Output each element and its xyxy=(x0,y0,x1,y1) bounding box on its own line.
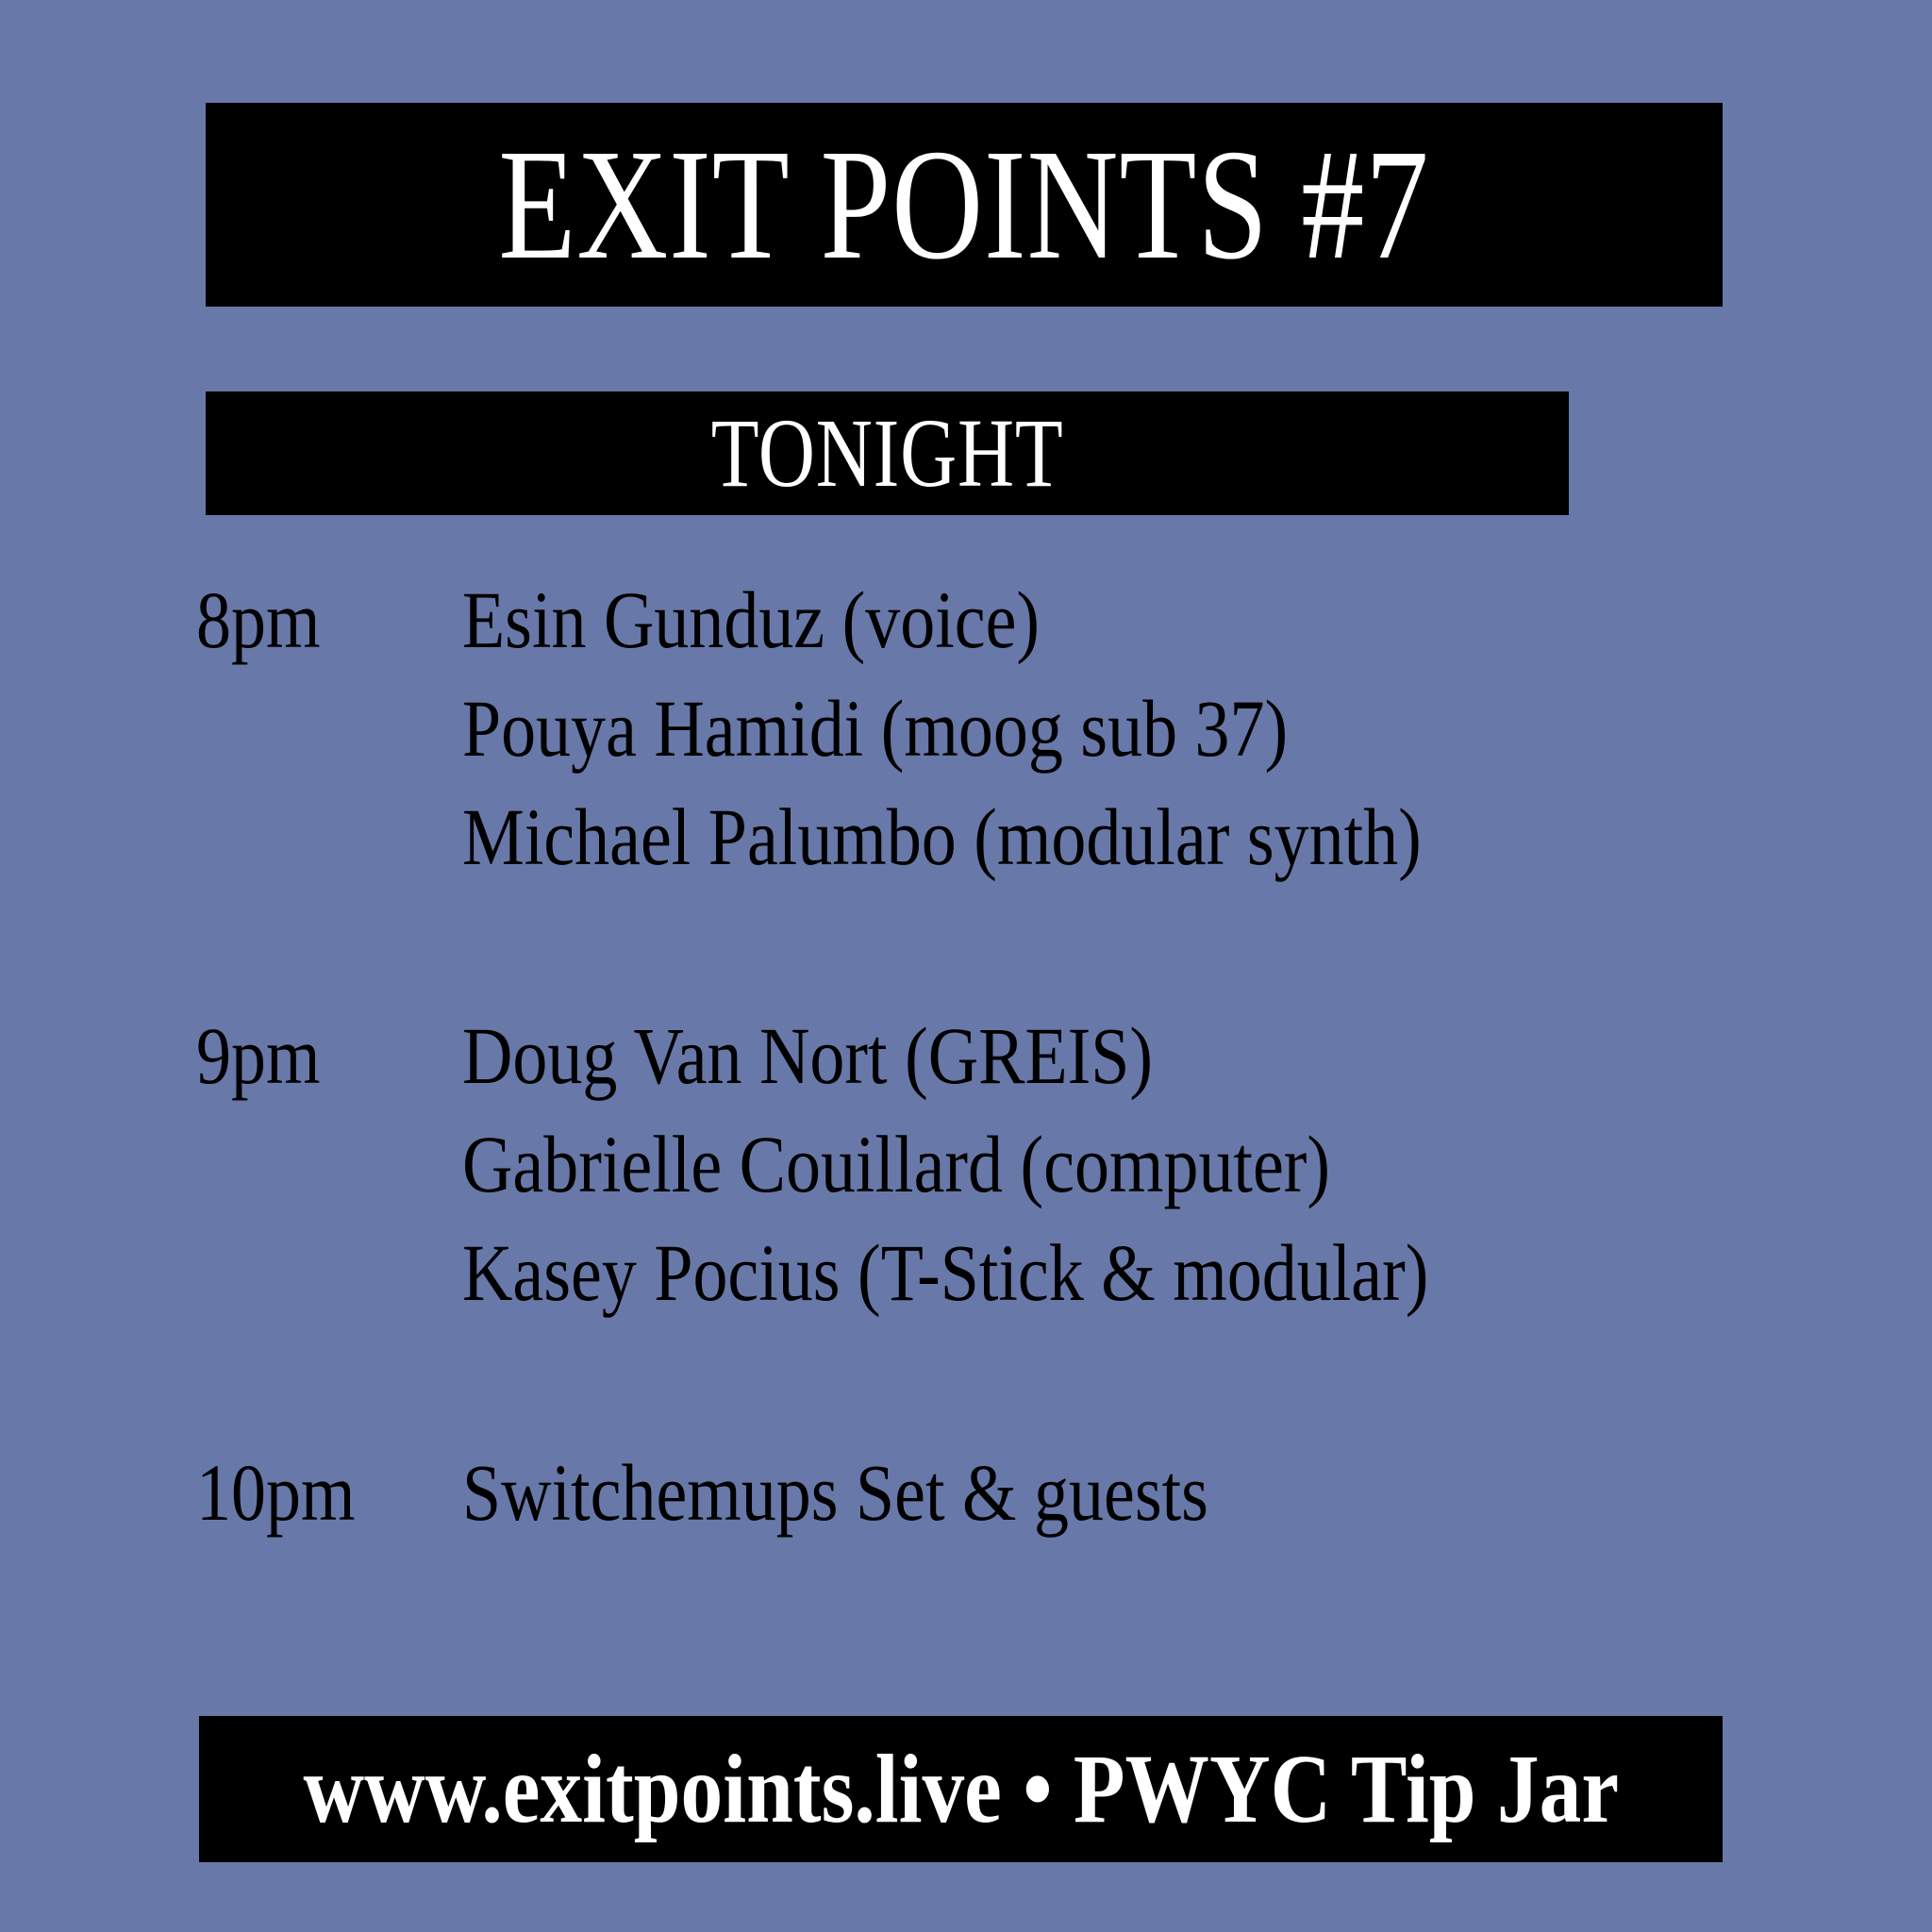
slot-time-label: 10pm xyxy=(196,1439,425,1547)
footer-link-and-tip-note[interactable]: www.exitpoints.live • PWYC Tip Jar xyxy=(303,1740,1619,1839)
page-title: EXIT POINTS #7 xyxy=(499,125,1430,284)
slot-act-list: Switchemups Set & guests xyxy=(462,1439,1857,1547)
event-poster: EXIT POINTS #7 TONIGHT 8pm Esin Gunduz (… xyxy=(0,0,1932,1932)
act-line: Michael Palumbo (modular synth) xyxy=(462,783,1661,891)
slot-act-list: Doug Van Nort (GREIS) Gabrielle Couillar… xyxy=(462,1002,1857,1327)
slot-time-label: 9pm xyxy=(196,1002,425,1110)
act-line: Gabrielle Couillard (computer) xyxy=(462,1110,1661,1219)
schedule-slot-10pm: 10pm Switchemups Set & guests xyxy=(196,1439,1857,1547)
title-banner: EXIT POINTS #7 xyxy=(206,103,1723,307)
act-line: Doug Van Nort (GREIS) xyxy=(462,1002,1661,1110)
schedule-list: 8pm Esin Gunduz (voice) Pouya Hamidi (mo… xyxy=(196,566,1857,1547)
schedule-slot-8pm: 8pm Esin Gunduz (voice) Pouya Hamidi (mo… xyxy=(196,566,1857,891)
slot-time-label: 8pm xyxy=(196,566,425,675)
subtitle-label: TONIGHT xyxy=(711,405,1064,503)
schedule-slot-9pm: 9pm Doug Van Nort (GREIS) Gabrielle Coui… xyxy=(196,1002,1857,1327)
act-line: Switchemups Set & guests xyxy=(462,1439,1661,1547)
footer-banner: www.exitpoints.live • PWYC Tip Jar xyxy=(199,1716,1723,1862)
act-line: Kasey Pocius (T-Stick & modular) xyxy=(462,1219,1661,1327)
slot-act-list: Esin Gunduz (voice) Pouya Hamidi (moog s… xyxy=(462,566,1857,891)
subtitle-banner: TONIGHT xyxy=(206,391,1569,515)
act-line: Esin Gunduz (voice) xyxy=(462,566,1661,675)
act-line: Pouya Hamidi (moog sub 37) xyxy=(462,675,1661,783)
